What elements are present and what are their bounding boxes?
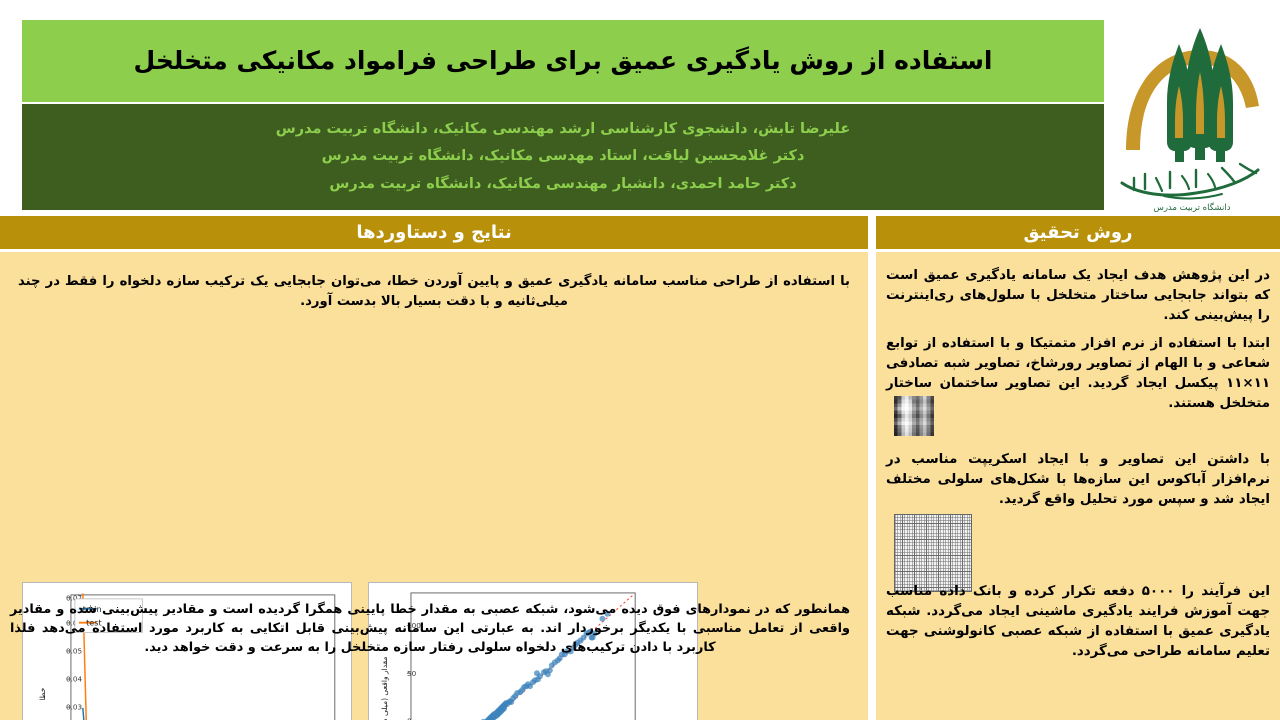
poster-title-band: استفاده از روش یادگیری عمیق برای طراحی ف… [22,20,1104,102]
method-paragraph-2: ابتدا با استفاده از نرم افزار متمتیکا و … [886,334,1270,414]
mesh-pattern [895,515,971,591]
section-header-method: روش تحقیق [876,216,1280,249]
author-line-3: دکتر حامد احمدی، دانشیار مهندسی مکانیک، … [329,177,796,193]
logo-caption-text: دانشگاه تربیت مدرس [1153,202,1230,213]
section-header-results: نتایج و دستاوردها [0,216,868,249]
section-body-method: در این پژوهش هدف ایجاد یک سامانه یادگیری… [876,252,1280,720]
results-conclusion-paragraph: همانطور که در نمودارهای فوق دیده می‌شود،… [10,600,850,658]
authors-band: علیرضا تابش، دانشجوی کارشناسی ارشد مهندس… [22,104,1104,210]
rorschach-noise-pixel-image [894,396,934,436]
section-header-results-label: نتایج و دستاوردها [356,224,511,242]
results-intro-paragraph: با استفاده از طراحی مناسب سامانه یادگیری… [18,272,850,313]
author-line-1: علیرضا تابش، دانشجوی کارشناسی ارشد مهندس… [276,122,850,138]
section-header-method-label: روش تحقیق [1024,224,1133,242]
abaqus-mesh-image [894,514,972,592]
loss-yaxis-label: خطا [38,687,47,700]
scatter-yaxis-label: مقدار واقعی (میلی متر) [380,656,389,720]
section-body-results: با استفاده از طراحی مناسب سامانه یادگیری… [0,252,868,720]
author-line-2: دکتر غلامحسین لیاقت، استاد مهدسی مکانیک،… [322,149,805,165]
page-title: استفاده از روش یادگیری عمیق برای طراحی ف… [104,46,1023,76]
svg-text:0: 0 [407,716,412,720]
method-paragraph-1: در این پژوهش هدف ایجاد یک سامانه یادگیری… [886,266,1270,326]
poster-root: استفاده از روش یادگیری عمیق برای طراحی ف… [0,0,1280,720]
method-paragraph-3: با داشتن این تصاویر و با ایجاد اسکریپت م… [886,450,1270,510]
method-paragraph-4: این فرآیند را ۵۰۰۰ دفعه تکرار کرده و بان… [886,582,1270,662]
logo-caption-calligraphy [1122,164,1258,198]
university-logo: دانشگاه تربیت مدرس [1104,10,1280,215]
